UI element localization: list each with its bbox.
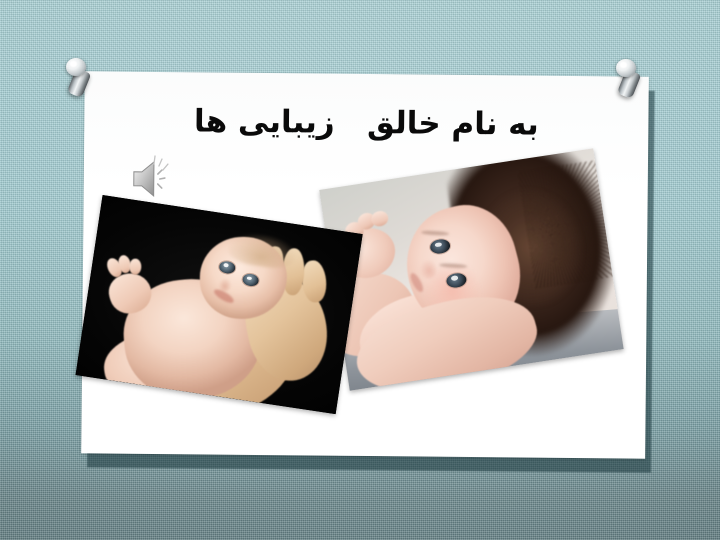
pushpin-head: [616, 59, 636, 77]
slide-title: به نام خالق زیبایی ها: [84, 101, 648, 145]
photo-baby-dark-hair[interactable]: [319, 148, 623, 390]
pushpin-left[interactable]: [62, 56, 96, 100]
pushpin-head: [66, 58, 86, 76]
baby-finger: [129, 259, 141, 275]
speaker-icon[interactable]: [128, 152, 182, 203]
pushpin-highlight: [620, 62, 627, 68]
baby-hair-strands: [518, 155, 623, 289]
slide-canvas: به نام خالق زیبایی ها: [0, 0, 720, 540]
pushpin-highlight: [70, 61, 77, 67]
pushpin-right[interactable]: [612, 57, 646, 101]
slide-paper: به نام خالق زیبایی ها: [81, 71, 649, 458]
slide-paper-surface: به نام خالق زیبایی ها: [81, 71, 649, 458]
photo-baby-black-background[interactable]: [76, 195, 363, 414]
